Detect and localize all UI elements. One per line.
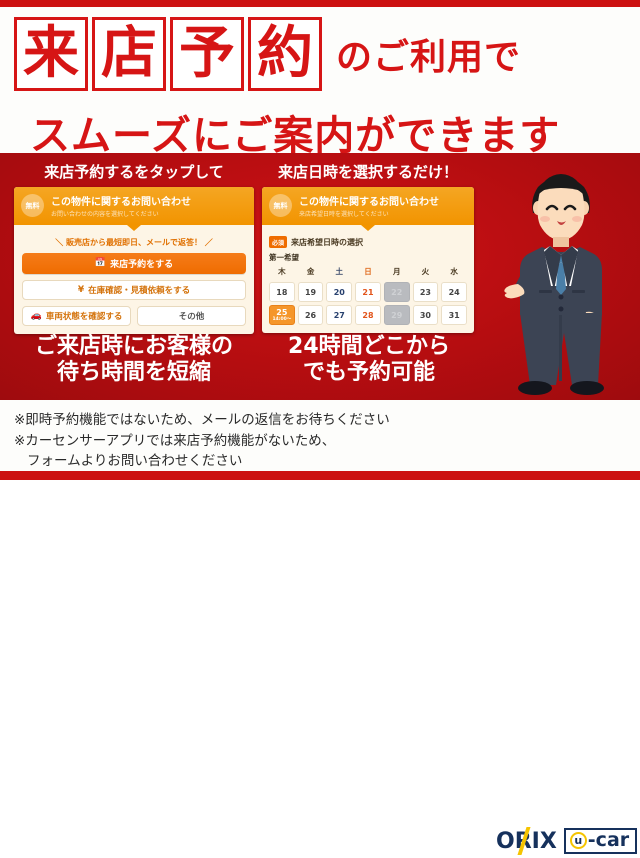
left-caption-line-2: 待ち時間を短縮: [8, 360, 260, 386]
calendar-day[interactable]: 21: [355, 282, 381, 302]
calendar-day-number: 24: [449, 288, 460, 297]
note-line-3: フォームよりお問い合わせください: [14, 451, 484, 472]
calendar-day[interactable]: 20: [326, 282, 352, 302]
free-badge-left: 無料: [21, 194, 44, 217]
top-red-rule: [0, 0, 640, 7]
left-panel: 来店予約するをタップして 無料 この物件に関するお問い合わせ お問い合わせの内容…: [14, 161, 254, 334]
ucar-u-circle: u: [570, 832, 587, 849]
kanji-char-1: 来: [23, 26, 79, 82]
calendar-weekday: 月: [384, 266, 410, 279]
ucar-car-text: -car: [588, 831, 629, 850]
feature-band: 来店予約するをタップして 無料 この物件に関するお問い合わせ お問い合わせの内容…: [0, 153, 640, 400]
calendar-day-disabled: 22: [384, 282, 410, 302]
calendar-day-number: 28: [362, 311, 373, 320]
other-button[interactable]: その他: [137, 306, 246, 326]
calendar-day[interactable]: 24: [441, 282, 467, 302]
reserve-visit-button[interactable]: 📅 来店予約をする: [22, 253, 246, 274]
promo-text: ＼ 販売店から最短即日、メールで返答！ ／: [22, 234, 246, 253]
calendar-icon: 📅: [95, 259, 106, 268]
left-panel-title: 来店予約するをタップして: [14, 161, 254, 182]
calendar-weekday: 火: [413, 266, 439, 279]
orix-ucar-logo: ORIX u -car: [496, 824, 637, 858]
other-label: その他: [179, 310, 205, 322]
calendar-day-number: 19: [305, 288, 316, 297]
right-panel: 来店日時を選択するだけ！ 無料 この物件に関するお問い合わせ 来店希望日時を選択…: [262, 161, 474, 333]
calendar-weekday: 日: [355, 266, 381, 279]
yen-icon: ¥: [78, 286, 84, 295]
required-badge: 必須: [269, 236, 287, 248]
calendar-day[interactable]: 28: [355, 305, 381, 325]
note-line-1: ※即時予約機能ではないため、メールの返信をお待ちください: [14, 410, 484, 431]
calendar-weekday: 金: [298, 266, 324, 279]
calendar-day-number: 23: [420, 288, 431, 297]
calendar-day[interactable]: 27: [326, 305, 352, 325]
car-icon: 🚗: [31, 312, 42, 321]
mockup-body-left: ＼ 販売店から最短即日、メールで返答！ ／ 📅 来店予約をする ¥ 在庫確認・見…: [14, 231, 254, 334]
stock-quote-button[interactable]: ¥ 在庫確認・見積依頼をする: [22, 280, 246, 300]
reserve-visit-label: 来店予約をする: [110, 257, 173, 270]
mockup-header-right: 無料 この物件に関するお問い合わせ 来店希望日時を選択してください: [262, 187, 474, 225]
left-caption: ご来店時にお客様の 待ち時間を短縮: [8, 334, 260, 386]
calendar-weekday: 水: [441, 266, 467, 279]
right-panel-title: 来店日時を選択するだけ！: [262, 161, 474, 182]
calendar-day[interactable]: 18: [269, 282, 295, 302]
kanji-char-3: 予: [179, 26, 235, 82]
right-caption-line-2: でも予約可能: [262, 360, 476, 386]
calendar-day-number: 29: [391, 311, 402, 320]
preference-label: 第一希望: [269, 252, 467, 263]
calendar-day-number: 26: [305, 311, 316, 320]
headline-tail-text: のご利用で: [336, 28, 521, 80]
vehicle-condition-button[interactable]: 🚗 車両状態を確認する: [22, 306, 131, 326]
vehicle-condition-label: 車両状態を確認する: [46, 310, 123, 322]
kanji-char-4: 約: [257, 26, 313, 82]
mockup-header-sub-right: 来店希望日時を選択してください: [299, 209, 467, 218]
calendar-section-header: 必須 来店希望日時の選択: [269, 236, 467, 248]
kanji-box-2: 店: [92, 17, 166, 91]
right-caption: 24時間どこから でも予約可能: [262, 334, 476, 386]
calendar-mockup: 無料 この物件に関するお問い合わせ 来店希望日時を選択してください 必須 来店希…: [262, 187, 474, 333]
mockup-body-right: 必須 来店希望日時の選択 第一希望 木金土日月火水181920212223242…: [262, 231, 474, 333]
calendar-weekday: 木: [269, 266, 295, 279]
inquiry-form-mockup: 無料 この物件に関するお問い合わせ お問い合わせの内容を選択してください ＼ 販…: [14, 187, 254, 334]
headline-row-1: 来 店 予 約 のご利用で: [14, 17, 521, 91]
mockup-header-sub-left: お問い合わせの内容を選択してください: [51, 209, 247, 218]
calendar-day[interactable]: 23: [413, 282, 439, 302]
footer-section: ※即時予約機能ではないため、メールの返信をお待ちください ※カーセンサーアプリで…: [0, 400, 640, 480]
kanji-box-4: 約: [248, 17, 322, 91]
mockup-header-title-right: この物件に関するお問い合わせ: [299, 193, 467, 208]
orix-wordmark: ORIX: [496, 829, 557, 854]
calendar-day[interactable]: 30: [413, 305, 439, 325]
calendar-day-number: 30: [420, 311, 431, 320]
kanji-box-1: 来: [14, 17, 88, 91]
left-caption-line-1: ご来店時にお客様の: [8, 334, 260, 360]
secondary-button-row: 🚗 車両状態を確認する その他: [22, 306, 246, 326]
calendar-grid: 木金土日月火水181920212223242514:00〜26272829303…: [269, 266, 467, 325]
calendar-day-number: 25: [276, 308, 287, 317]
calendar-day-number: 20: [334, 288, 345, 297]
mockup-header-left: 無料 この物件に関するお問い合わせ お問い合わせの内容を選択してください: [14, 187, 254, 225]
calendar-day-number: 21: [362, 288, 373, 297]
right-caption-line-1: 24時間どこから: [262, 334, 476, 360]
advertisement-page: 来 店 予 約 のご利用で スムーズにご案内ができます 来店予約するをタップして…: [0, 0, 640, 480]
businessman-illustration: [498, 153, 624, 400]
calendar-day-selected[interactable]: 2514:00〜: [269, 305, 295, 325]
calendar-section-label: 来店希望日時の選択: [291, 237, 363, 248]
calendar-day[interactable]: 26: [298, 305, 324, 325]
mockup-header-title-left: この物件に関するお問い合わせ: [51, 193, 247, 208]
calendar-day-number: 27: [334, 311, 345, 320]
stock-quote-label: 在庫確認・見積依頼をする: [88, 284, 190, 296]
calendar-day-time: 14:00〜: [272, 318, 291, 323]
calendar-day-number: 31: [449, 311, 460, 320]
disclaimer-notes: ※即時予約機能ではないため、メールの返信をお待ちください ※カーセンサーアプリで…: [14, 410, 484, 472]
calendar-day[interactable]: 19: [298, 282, 324, 302]
calendar-day-disabled: 29: [384, 305, 410, 325]
note-line-2: ※カーセンサーアプリでは来店予約機能がないため、: [14, 431, 484, 452]
headline-section: 来 店 予 約 のご利用で スムーズにご案内ができます: [0, 7, 640, 153]
calendar-day-number: 22: [391, 288, 402, 297]
calendar-day-number: 18: [276, 288, 287, 297]
calendar-day[interactable]: 31: [441, 305, 467, 325]
ucar-badge: u -car: [564, 828, 637, 854]
kanji-char-2: 店: [101, 26, 157, 82]
kanji-box-3: 予: [170, 17, 244, 91]
free-badge-right: 無料: [269, 194, 292, 217]
calendar-weekday: 土: [326, 266, 352, 279]
bottom-red-rule: [0, 471, 640, 480]
